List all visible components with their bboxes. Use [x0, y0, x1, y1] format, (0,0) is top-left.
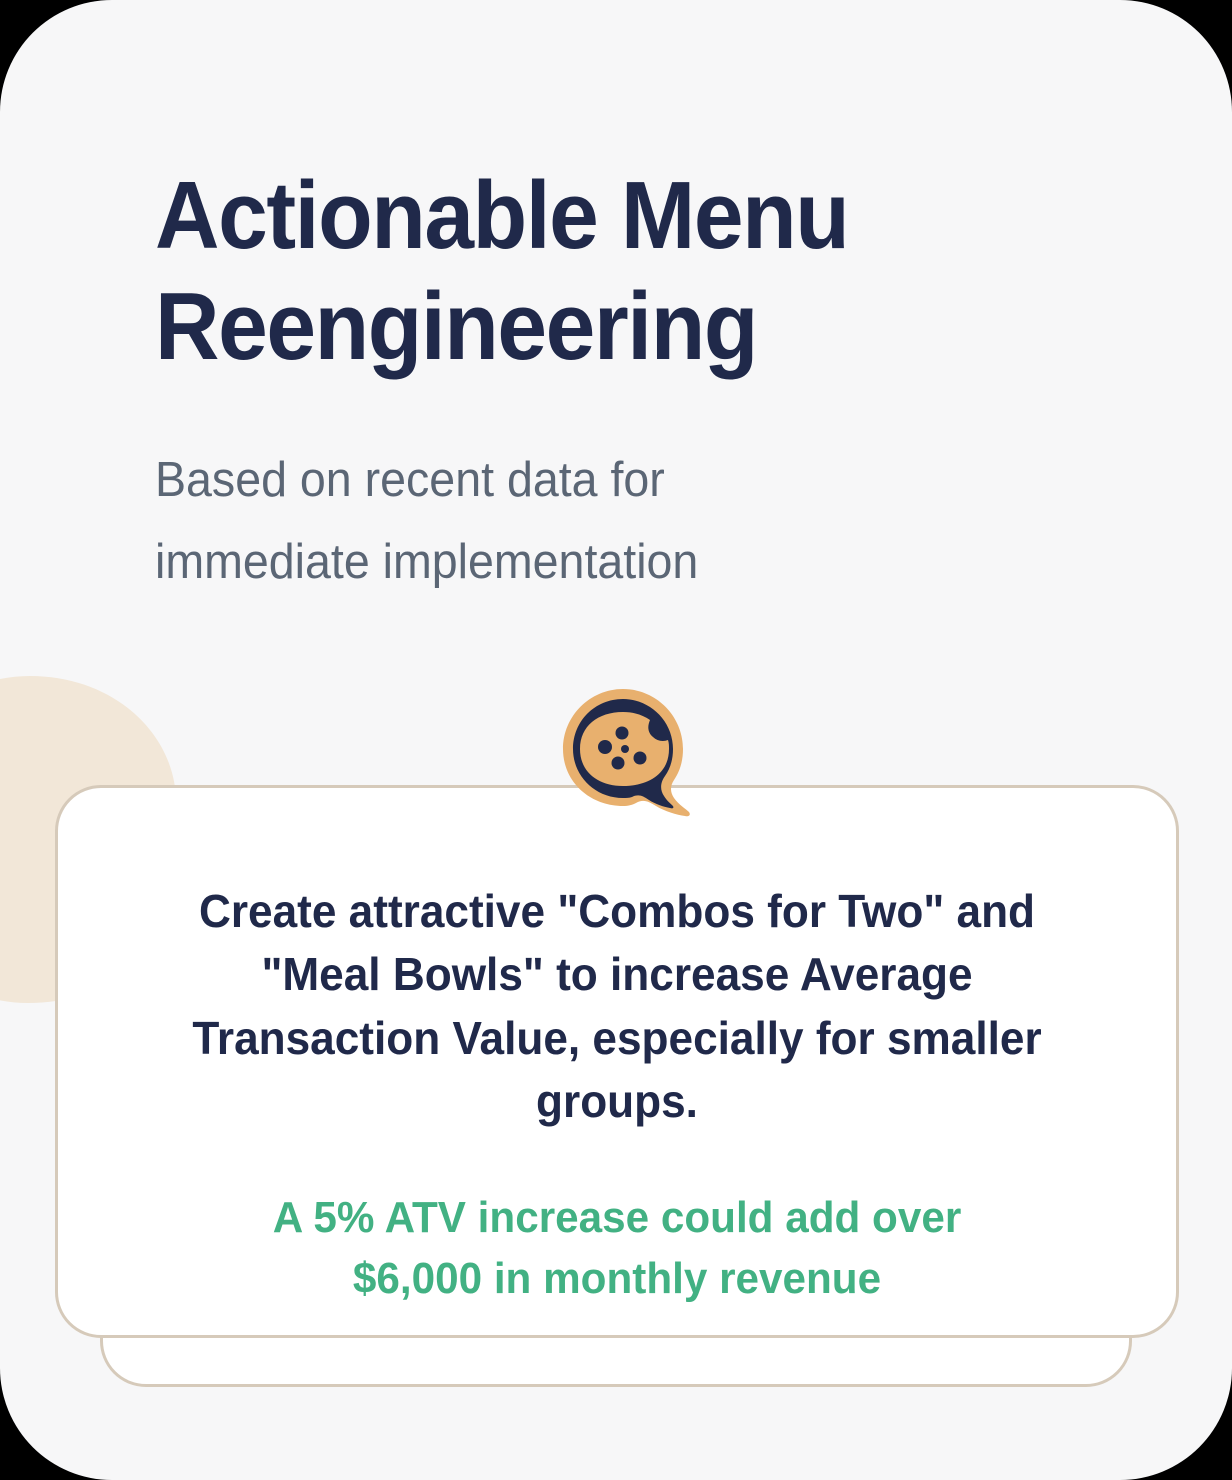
header: Actionable Menu Reengineering Based on r… [155, 160, 1055, 603]
poster-canvas: Actionable Menu Reengineering Based on r… [0, 0, 1232, 1480]
recommendation-body-text: Create attractive "Combos for Two" and "… [175, 880, 1058, 1134]
recommendation-impact-text: A 5% ATV increase could add over $6,000 … [204, 1134, 1030, 1309]
cookie-speech-bubble-icon [560, 686, 692, 818]
recommendation-card: Create attractive "Combos for Two" and "… [55, 785, 1179, 1338]
page-title: Actionable Menu Reengineering [155, 160, 992, 383]
page-subtitle: Based on recent data for immediate imple… [155, 383, 1010, 604]
